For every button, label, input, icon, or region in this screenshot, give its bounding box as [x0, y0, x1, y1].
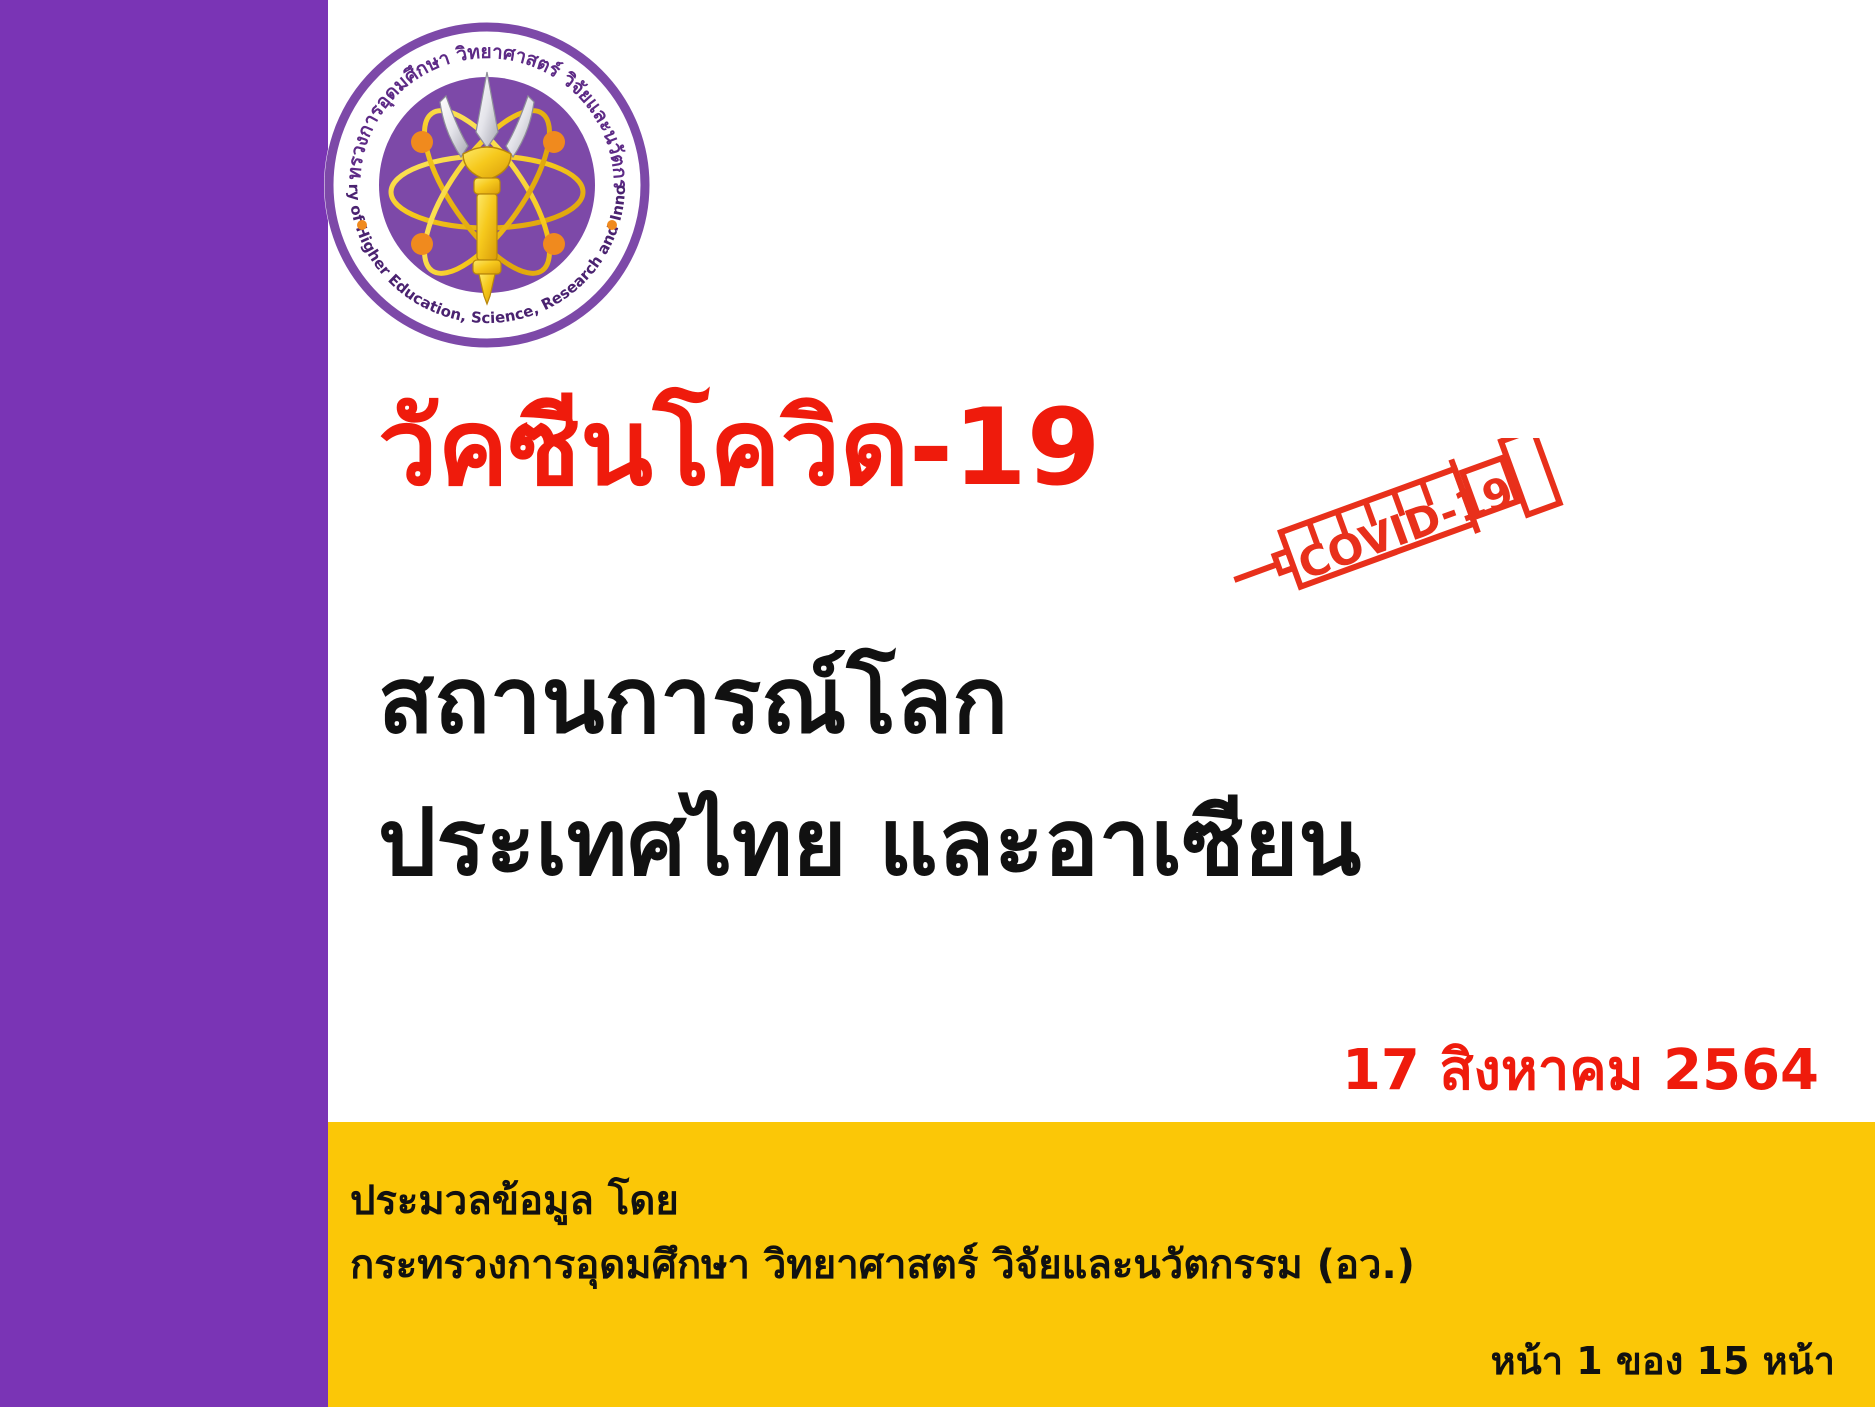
- left-purple-band: [0, 0, 328, 1407]
- page-indicator: หน้า 1 ของ 15 หน้า: [1491, 1330, 1835, 1391]
- logo-ring-dot-right: [607, 220, 617, 230]
- ministry-logo: กระทรวงการอุดมศึกษา วิทยาศาสตร์ วิจัยและ…: [322, 20, 652, 350]
- page-title-red: วัคซีนโควิด-19: [378, 392, 1101, 503]
- report-date: 17 สิงหาคม 2564: [1342, 1025, 1819, 1114]
- logo-ring-dot-left: [357, 220, 367, 230]
- slide-canvas: กระทรวงการอุดมศึกษา วิทยาศาสตร์ วิจัยและ…: [0, 0, 1875, 1407]
- subtitle-thailand-asean: ประเทศไทย และอาเซียน: [378, 790, 1361, 896]
- footer-compiled-by-label: ประมวลข้อมูล โดย: [350, 1168, 679, 1232]
- subtitle-world-situation: สถานการณ์โลก: [378, 648, 1008, 754]
- footer-organization: กระทรวงการอุดมศึกษา วิทยาศาสตร์ วิจัยและ…: [350, 1232, 1415, 1296]
- syringe-icon: COVID-19: [1222, 438, 1582, 603]
